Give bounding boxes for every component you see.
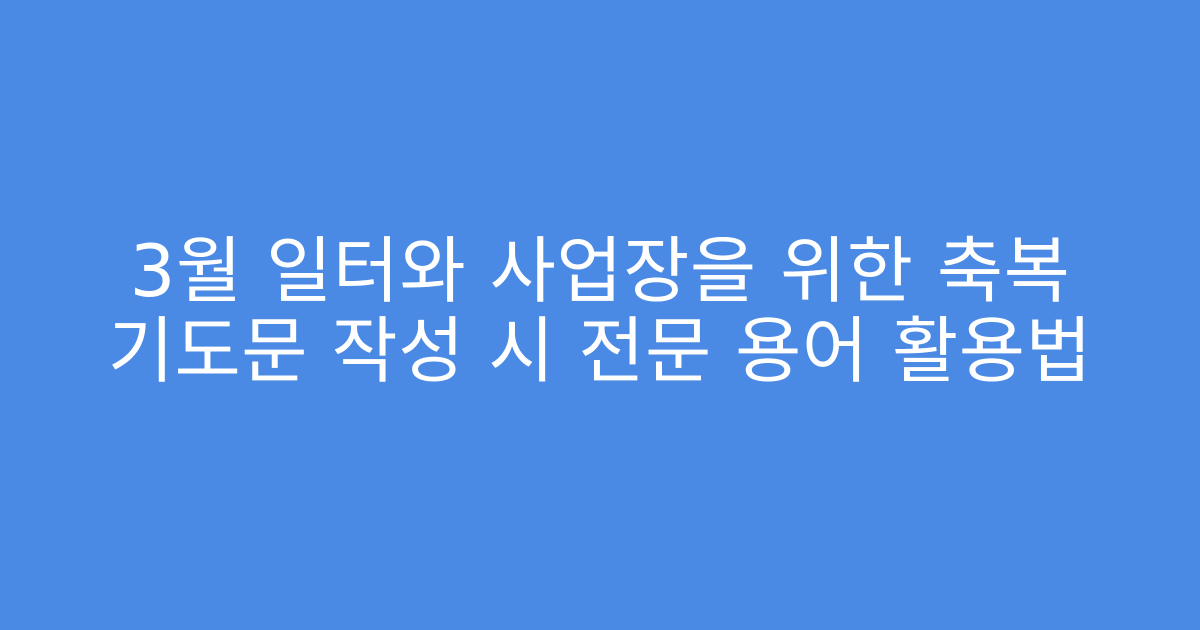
- title-line-2: 기도문 작성 시 전문 용어 활용법: [58, 311, 1142, 391]
- title-line-1: 3월 일터와 사업장을 위한 축복: [58, 231, 1142, 311]
- page-title: 3월 일터와 사업장을 위한 축복 기도문 작성 시 전문 용어 활용법: [50, 231, 1150, 391]
- og-card-canvas: 3월 일터와 사업장을 위한 축복 기도문 작성 시 전문 용어 활용법: [0, 0, 1200, 630]
